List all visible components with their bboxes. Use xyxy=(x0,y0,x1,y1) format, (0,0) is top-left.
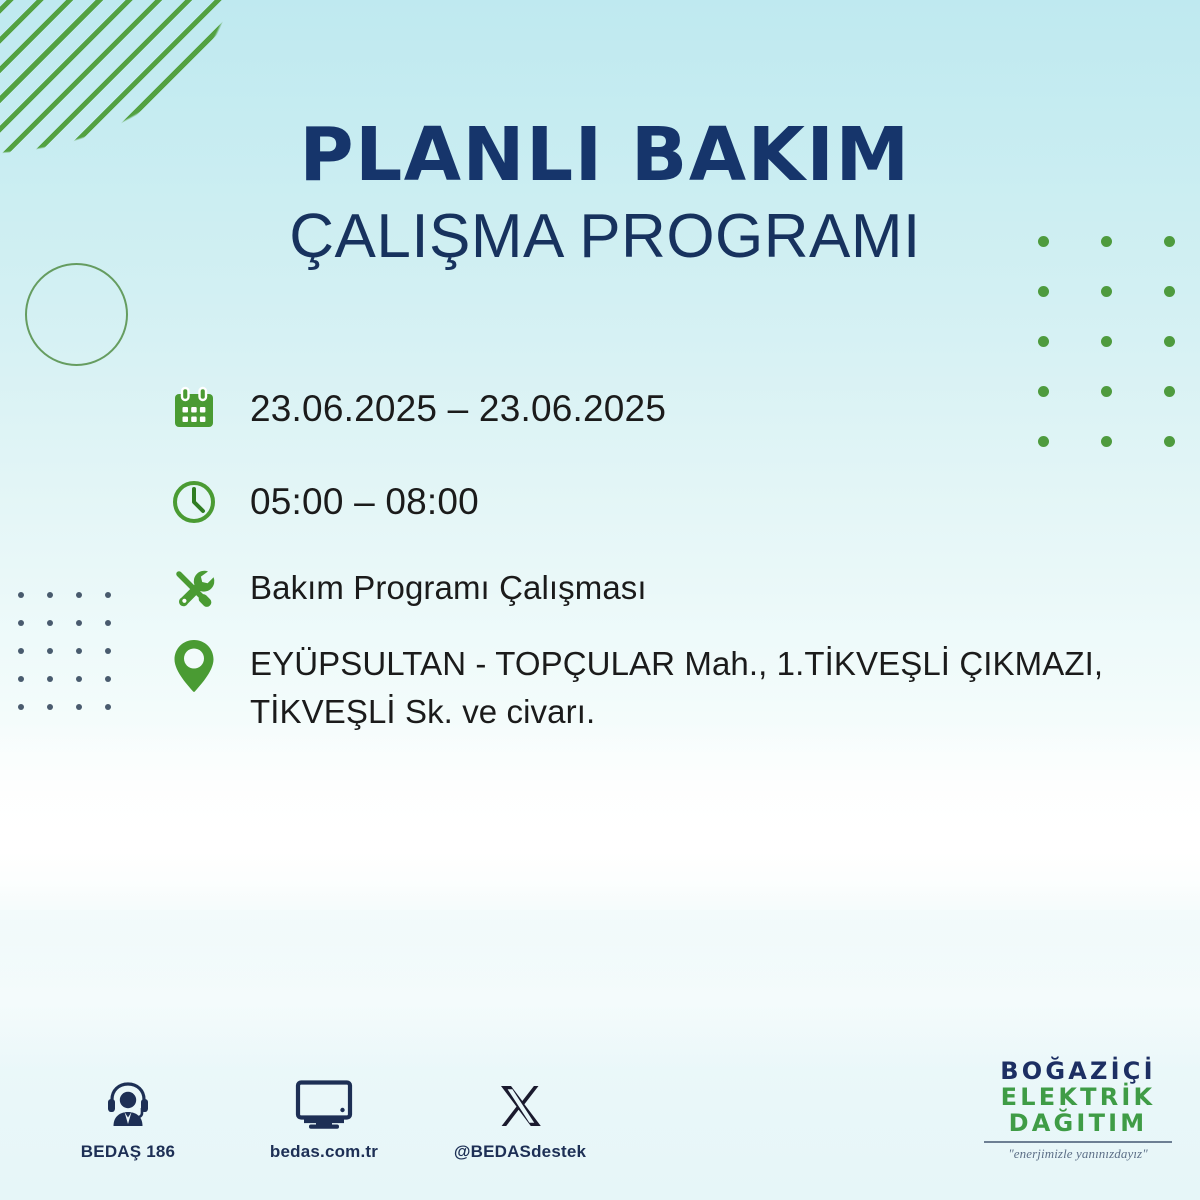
page-title: PLANLI BAKIM xyxy=(0,118,1200,192)
tools-icon xyxy=(163,557,225,619)
page-subtitle: ÇALIŞMA PROGRAMI xyxy=(0,206,1200,268)
footer-contact-bar: BEDAŞ 186 bedas.com.tr @BEDASdestek xyxy=(58,1078,590,1162)
dot-grid-decoration-left xyxy=(18,592,134,732)
x-twitter-icon xyxy=(496,1078,544,1130)
contact-website[interactable]: bedas.com.tr xyxy=(254,1078,394,1162)
brand-divider xyxy=(984,1141,1172,1143)
work-type-text: Bakım Programı Çalışması xyxy=(225,557,647,619)
detail-row-location: EYÜPSULTAN - TOPÇULAR Mah., 1.TİKVEŞLİ Ç… xyxy=(163,635,1173,736)
detail-row-work-type: Bakım Programı Çalışması xyxy=(163,557,1173,619)
contact-website-label: bedas.com.tr xyxy=(270,1142,378,1162)
circle-outline-decoration xyxy=(25,263,128,366)
contact-phone-label: BEDAŞ 186 xyxy=(81,1142,175,1162)
brand-line-bogazici: BOĞAZİÇİ xyxy=(978,1058,1178,1084)
planned-maintenance-poster: PLANLI BAKIM ÇALIŞMA PROGRAMI xyxy=(0,0,1200,1200)
monitor-icon xyxy=(295,1078,353,1130)
contact-phone[interactable]: BEDAŞ 186 xyxy=(58,1078,198,1162)
contact-x-label: @BEDASdestek xyxy=(454,1142,586,1162)
calendar-icon xyxy=(163,378,225,440)
maintenance-details-list: 23.06.2025 – 23.06.2025 05:00 – 08:00 xyxy=(163,378,1173,764)
bedas-logo: BOĞAZİÇİ ELEKTRİK DAĞITIM "enerjimizle y… xyxy=(978,1058,1178,1162)
detail-row-time: 05:00 – 08:00 xyxy=(163,471,1173,533)
time-range-text: 05:00 – 08:00 xyxy=(225,471,479,533)
location-text: EYÜPSULTAN - TOPÇULAR Mah., 1.TİKVEŞLİ Ç… xyxy=(225,635,1173,736)
clock-icon xyxy=(163,471,225,533)
map-pin-icon xyxy=(163,635,225,697)
headset-support-icon xyxy=(102,1078,154,1130)
background-haze-band-lower xyxy=(0,930,1200,1070)
contact-x-twitter[interactable]: @BEDASdestek xyxy=(450,1078,590,1162)
detail-row-date: 23.06.2025 – 23.06.2025 xyxy=(163,378,1173,440)
brand-line-dagitim: DAĞITIM xyxy=(978,1110,1178,1136)
brand-line-elektrik: ELEKTRİK xyxy=(978,1084,1178,1110)
date-range-text: 23.06.2025 – 23.06.2025 xyxy=(225,378,666,440)
poster-title-block: PLANLI BAKIM ÇALIŞMA PROGRAMI xyxy=(0,118,1200,268)
brand-tagline: "enerjimizle yanınızdayız" xyxy=(978,1146,1178,1162)
